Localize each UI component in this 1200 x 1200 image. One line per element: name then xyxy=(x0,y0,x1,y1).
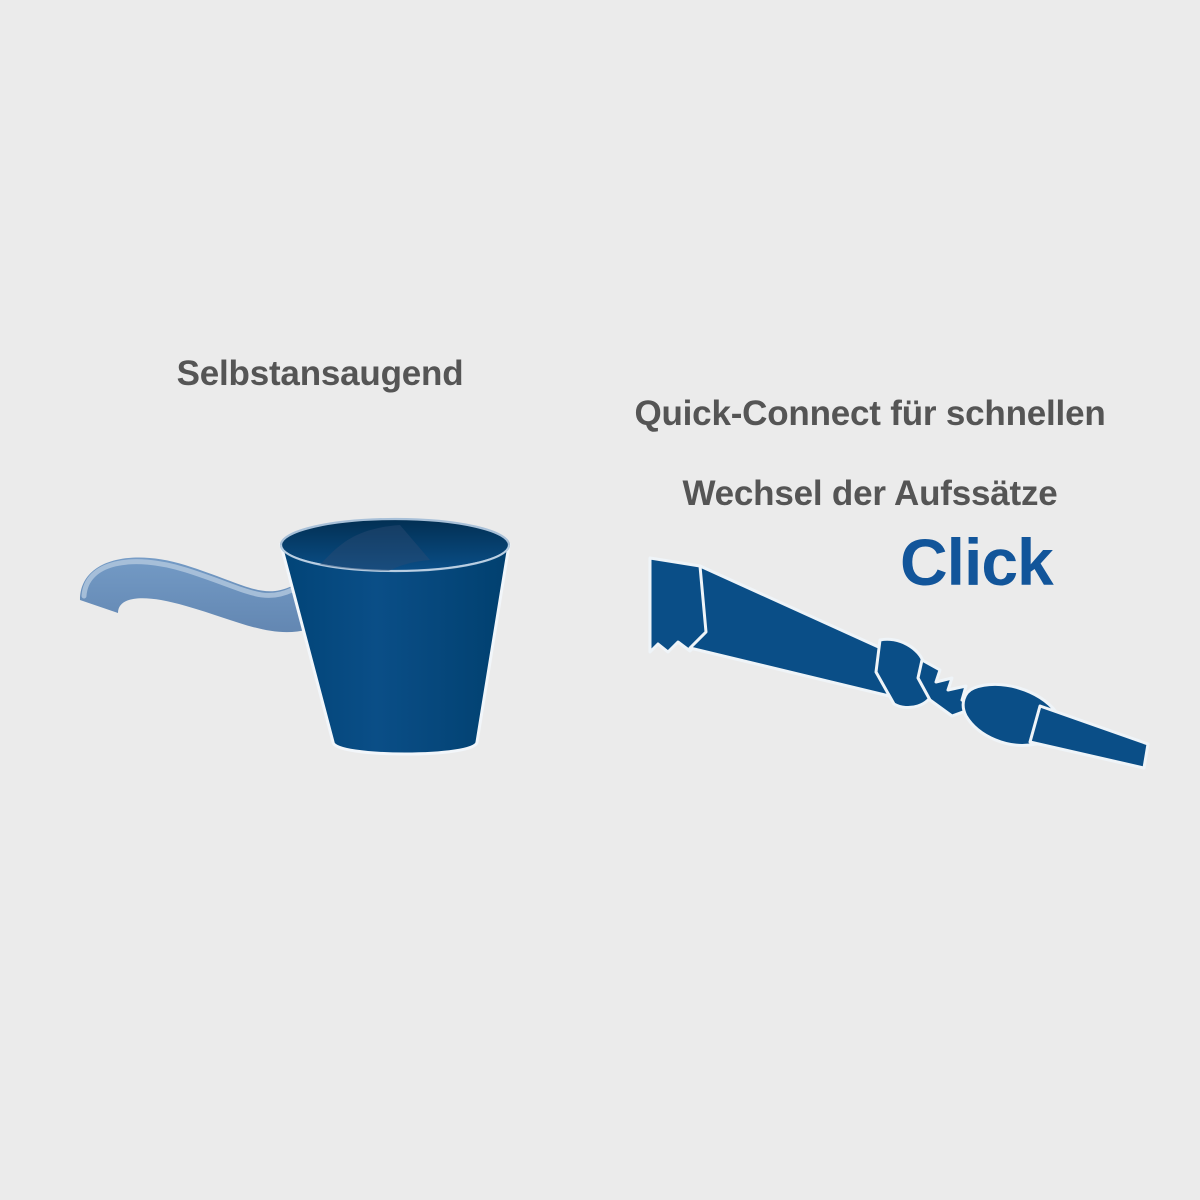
spray-nozzle-head xyxy=(650,558,760,652)
connector-body xyxy=(963,684,1059,745)
page-title-left: Selbstansaugend xyxy=(60,354,580,394)
hose-bucket-overlap xyxy=(281,519,509,571)
flow-arrows xyxy=(366,528,415,579)
page-title-right-line1: Quick-Connect für schnellen xyxy=(634,394,1105,433)
quick-connect-wand xyxy=(650,558,1148,768)
suction-hose xyxy=(80,525,432,632)
quick-connect-coupling xyxy=(918,660,980,716)
wand-shaft xyxy=(690,566,916,700)
page-title-right: Quick-Connect für schnellen Wechsel der … xyxy=(600,354,1140,514)
extension-tube xyxy=(1030,706,1148,768)
infographic-canvas: Selbstansaugend Quick-Connect für schnel… xyxy=(0,0,1200,1200)
left-illustration xyxy=(0,0,1200,1200)
page-title-right-line2: Wechsel der Aufssätze xyxy=(682,474,1057,513)
right-illustration xyxy=(0,0,1200,1200)
click-badge-label: Click xyxy=(900,524,1053,600)
wand-shoulder xyxy=(876,639,934,707)
water-bucket xyxy=(281,519,509,754)
